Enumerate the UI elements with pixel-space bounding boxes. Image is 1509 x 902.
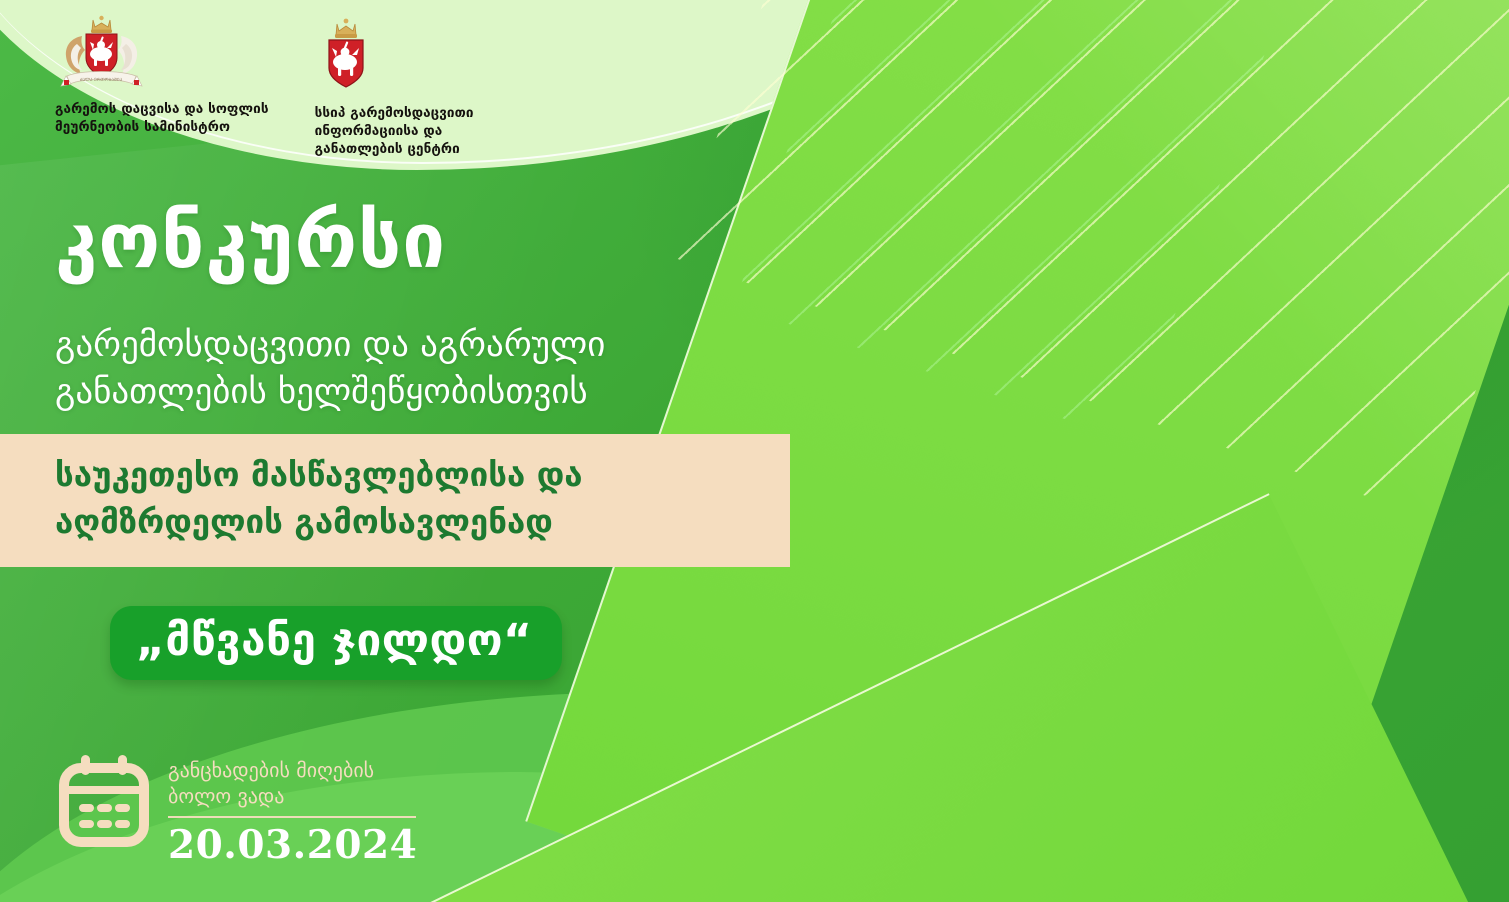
page-title: კონკურსი [55, 203, 446, 279]
logo-ministry-text: გარემოს დაცვისა და სოფლის მეურნეობის სამ… [55, 100, 269, 136]
georgia-coat-of-arms-icon: ᲫᲐᲚᲐ ᲔᲠᲗᲝᲑᲐᲨᲘᲐ [55, 14, 148, 94]
highlight-banner: საუკეთესო მასწავლებლისა და აღმზრდელის გა… [0, 434, 790, 567]
deadline-block: განცხადების მიღების ბოლო ვადა 20.03.2024 [58, 752, 417, 868]
red-shield-crown-icon [315, 16, 377, 94]
highlight-banner-text: საუკეთესო მასწავლებლისა და აღმზრდელის გა… [55, 452, 583, 546]
deadline-text-group: განცხადების მიღების ბოლო ვადა 20.03.2024 [168, 758, 417, 868]
logo-center: სსიპ გარემოსდაცვითი ინფორმაციისა და განა… [315, 16, 474, 159]
calendar-icon [58, 752, 150, 848]
deadline-divider [168, 816, 416, 818]
award-name-label: „მწვანე ჯილდო“ [136, 617, 532, 665]
logo-center-text: სსიპ გარემოსდაცვითი ინფორმაციისა და განა… [315, 104, 474, 159]
poster-canvas: ᲫᲐᲚᲐ ᲔᲠᲗᲝᲑᲐᲨᲘᲐ გარემოს დაცვისა და სოფლის… [0, 0, 1509, 902]
award-name-badge: „მწვანე ჯილდო“ [110, 606, 562, 680]
deadline-label: განცხადების მიღების ბოლო ვადა [168, 758, 417, 809]
page-subtitle: გარემოსდაცვითი და აგრარული განათლების ხე… [55, 322, 605, 416]
logo-ministry: ᲫᲐᲚᲐ ᲔᲠᲗᲝᲑᲐᲨᲘᲐ გარემოს დაცვისა და სოფლის… [55, 14, 269, 136]
logo-row: ᲫᲐᲚᲐ ᲔᲠᲗᲝᲑᲐᲨᲘᲐ გარემოს დაცვისა და სოფლის… [55, 14, 474, 159]
deadline-date: 20.03.2024 [168, 822, 417, 868]
svg-text:ᲫᲐᲚᲐ ᲔᲠᲗᲝᲑᲐᲨᲘᲐ: ᲫᲐᲚᲐ ᲔᲠᲗᲝᲑᲐᲨᲘᲐ [80, 77, 123, 83]
